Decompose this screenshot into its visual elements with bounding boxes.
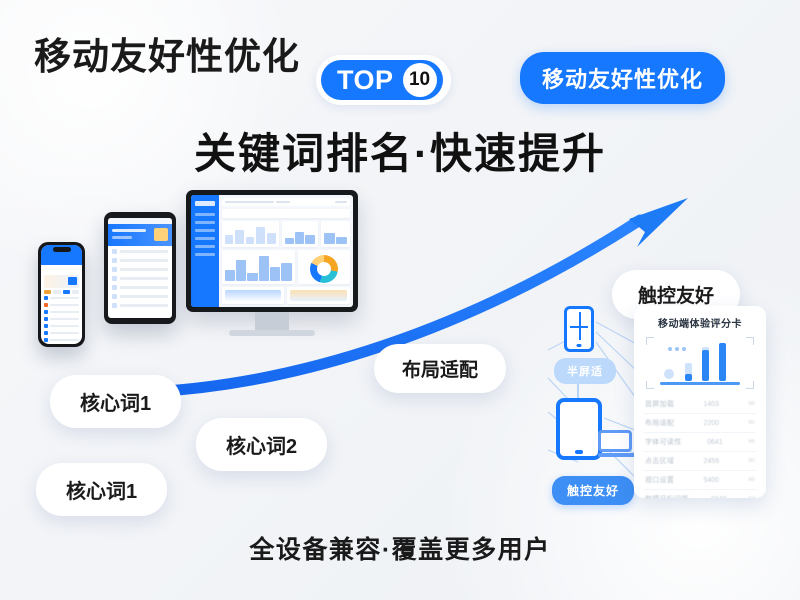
score-card-title: 移动端体验评分卡 — [644, 315, 756, 330]
tablet-screen — [108, 218, 172, 318]
row-value: 5400 — [703, 477, 719, 484]
score-card-chart — [646, 337, 754, 389]
row-extra: 93 — [748, 496, 755, 498]
row-extra: 86 — [748, 477, 755, 483]
keyword-pill-1: 核心词1 — [50, 375, 181, 428]
desktop-monitor-mockup — [186, 190, 358, 325]
table-row: 字体可读性 0641 96 — [644, 433, 756, 452]
score-card-panel: 移动端体验评分卡 首屏加载 1403 98 — [634, 306, 766, 498]
table-row: 点击区域 2459 80 — [644, 452, 756, 471]
tablet-banner — [108, 224, 172, 246]
monitor-screen — [191, 195, 353, 307]
device-compat-illustration: 半屏适 触控友好 移动端体验评分卡 — [548, 300, 778, 520]
table-row: 布局适配 2200 95 — [644, 414, 756, 433]
tablet-list — [108, 246, 172, 311]
mobile-phone-icon — [556, 398, 602, 460]
row-name: 字体可读性 — [645, 437, 682, 447]
row-name: 布局适配 — [645, 418, 674, 428]
dashboard-sidebar — [191, 195, 219, 307]
laptop-icon — [598, 430, 638, 460]
row-name: 视口设置 — [645, 475, 674, 485]
row-extra: 96 — [748, 439, 755, 445]
footer-caption: 全设备兼容·覆盖更多用户 — [0, 530, 800, 566]
phone-result-list — [44, 296, 79, 342]
phone-screen — [41, 245, 82, 344]
callout-layout-pill: 布局适配 — [374, 344, 506, 393]
table-row: 视口设置 5400 86 — [644, 471, 756, 490]
chart-bars — [666, 341, 744, 381]
tablet-mockup — [104, 212, 176, 324]
keyword-pill-3: 核心词1 — [36, 463, 167, 516]
poster-canvas: 移动友好性优化 TOP 10 移动友好性优化 关键词排名·快速提升 — [0, 0, 800, 600]
row-value: 2459 — [703, 458, 719, 465]
phone-promo-card — [44, 275, 79, 288]
row-value: 2200 — [703, 420, 719, 427]
top-badge-word: TOP — [337, 67, 394, 94]
score-card-rows: 首屏加载 1403 98 布局适配 2200 95 字体可读性 0641 96 … — [644, 395, 756, 498]
chart-baseline — [660, 382, 740, 385]
split-screen-label: 半屏适 — [554, 358, 616, 384]
dashboard-topbar — [222, 198, 350, 206]
table-row: 触摸目标间距 2249 93 — [644, 490, 756, 498]
monitor-stand-neck — [255, 312, 289, 330]
kicker-title: 移动友好性优化 — [34, 26, 300, 80]
phone-notch — [53, 247, 71, 252]
top-badge-number: 10 — [403, 63, 437, 97]
keyword-pill-2: 核心词2 — [196, 418, 327, 471]
row-extra: 98 — [748, 401, 755, 407]
dashboard-main — [219, 195, 353, 307]
device-mockups — [26, 190, 346, 395]
row-value: 0641 — [707, 439, 723, 446]
row-value: 1403 — [703, 401, 719, 408]
row-name: 点击区域 — [645, 456, 674, 466]
row-extra: 80 — [748, 458, 755, 464]
row-name: 触摸目标间距 — [645, 494, 689, 498]
monitor-stand-foot — [229, 330, 315, 336]
phone-search-bar — [44, 266, 79, 273]
row-extra: 95 — [748, 420, 755, 426]
monitor-body — [186, 190, 358, 312]
row-name: 首屏加载 — [645, 399, 674, 409]
page-title: 关键词排名·快速提升 — [0, 120, 800, 181]
row-value: 2249 — [711, 496, 727, 499]
top-badge-inner: TOP 10 — [321, 60, 443, 100]
touch-friendly-pill: 触控友好 — [552, 476, 634, 505]
phone-mockup — [38, 242, 85, 347]
top-badge: TOP 10 — [316, 55, 451, 105]
tag-pill: 移动友好性优化 — [520, 52, 725, 104]
table-row: 首屏加载 1403 98 — [644, 395, 756, 414]
split-screen-phone-icon — [564, 306, 594, 352]
phone-chip-row — [44, 290, 79, 294]
